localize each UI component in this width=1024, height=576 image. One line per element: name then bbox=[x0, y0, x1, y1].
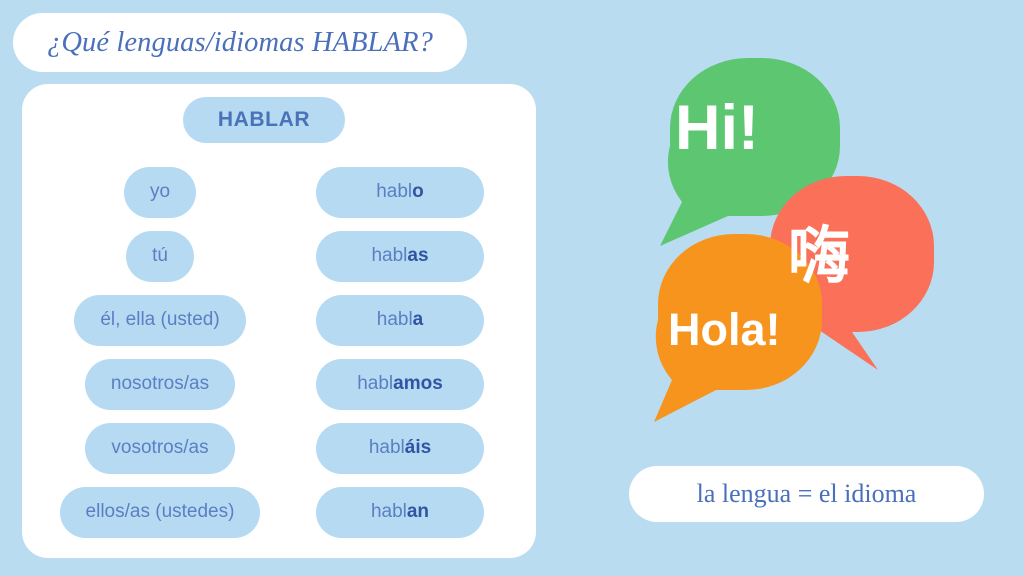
orange-bubble-label: Hola! bbox=[668, 304, 781, 356]
verb-form-pill: hablamos bbox=[316, 359, 484, 410]
verb-form-pill: habla bbox=[316, 295, 484, 346]
table-row: vosotros/as habláis bbox=[22, 416, 536, 480]
pronoun-pill: yo bbox=[124, 167, 196, 218]
pronoun-cell: él, ella (usted) bbox=[22, 295, 298, 346]
table-row: él, ella (usted) habla bbox=[22, 288, 536, 352]
verb-header-pill: HABLAR bbox=[183, 97, 345, 143]
page-title-text: ¿Qué lenguas/idiomas HABLAR? bbox=[47, 27, 433, 59]
pronoun-cell: tú bbox=[22, 231, 298, 282]
green-bubble-label: Hi! bbox=[675, 92, 759, 164]
verb-ending: a bbox=[413, 309, 424, 331]
pronoun-label: vosotros/as bbox=[111, 437, 208, 459]
pronoun-cell: ellos/as (ustedes) bbox=[22, 487, 298, 538]
pronoun-pill: vosotros/as bbox=[85, 423, 234, 474]
table-row: nosotros/as hablamos bbox=[22, 352, 536, 416]
conjugation-table: yo hablo tú hablas bbox=[22, 160, 536, 544]
verb-ending: áis bbox=[405, 437, 431, 459]
verb-stem: habl bbox=[376, 181, 412, 203]
pronoun-label: él, ella (usted) bbox=[100, 309, 219, 331]
verb-stem: habl bbox=[377, 309, 413, 331]
verb-form-pill: hablo bbox=[316, 167, 484, 218]
verb-header-label: HABLAR bbox=[218, 108, 310, 132]
table-row: ellos/as (ustedes) hablan bbox=[22, 480, 536, 544]
verb-form-pill: hablas bbox=[316, 231, 484, 282]
verb-ending: an bbox=[407, 501, 429, 523]
pronoun-cell: vosotros/as bbox=[22, 423, 298, 474]
verb-cell: hablo bbox=[298, 167, 536, 218]
pronoun-pill: tú bbox=[126, 231, 194, 282]
pronoun-cell: nosotros/as bbox=[22, 359, 298, 410]
verb-ending: amos bbox=[393, 373, 443, 395]
pronoun-cell: yo bbox=[22, 167, 298, 218]
verb-stem: habl bbox=[371, 501, 407, 523]
verb-stem: habl bbox=[369, 437, 405, 459]
pronoun-pill: ellos/as (ustedes) bbox=[60, 487, 261, 538]
speech-bubbles-illustration: Hi! 嗨 Hola! bbox=[620, 50, 1020, 450]
verb-cell: habla bbox=[298, 295, 536, 346]
pronoun-label: nosotros/as bbox=[111, 373, 209, 395]
verb-cell: hablamos bbox=[298, 359, 536, 410]
vocabulary-note: la lengua = el idioma bbox=[629, 466, 984, 522]
verb-stem: habl bbox=[357, 373, 393, 395]
pronoun-pill: nosotros/as bbox=[85, 359, 235, 410]
verb-cell: habláis bbox=[298, 423, 536, 474]
pronoun-label: tú bbox=[152, 245, 168, 267]
verb-form-pill: habláis bbox=[316, 423, 484, 474]
verb-ending: o bbox=[412, 181, 424, 203]
vocabulary-note-text: la lengua = el idioma bbox=[697, 479, 917, 509]
verb-stem: habl bbox=[371, 245, 407, 267]
pronoun-pill: él, ella (usted) bbox=[74, 295, 245, 346]
table-row: yo hablo bbox=[22, 160, 536, 224]
table-row: tú hablas bbox=[22, 224, 536, 288]
verb-cell: hablan bbox=[298, 487, 536, 538]
page-title: ¿Qué lenguas/idiomas HABLAR? bbox=[13, 13, 467, 72]
verb-cell: hablas bbox=[298, 231, 536, 282]
pronoun-label: yo bbox=[150, 181, 170, 203]
red-bubble-label: 嗨 bbox=[788, 205, 850, 295]
verb-form-pill: hablan bbox=[316, 487, 484, 538]
pronoun-label: ellos/as (ustedes) bbox=[86, 501, 235, 523]
verb-ending: as bbox=[407, 245, 428, 267]
conjugation-panel: HABLAR yo hablo tú habla bbox=[22, 84, 536, 558]
